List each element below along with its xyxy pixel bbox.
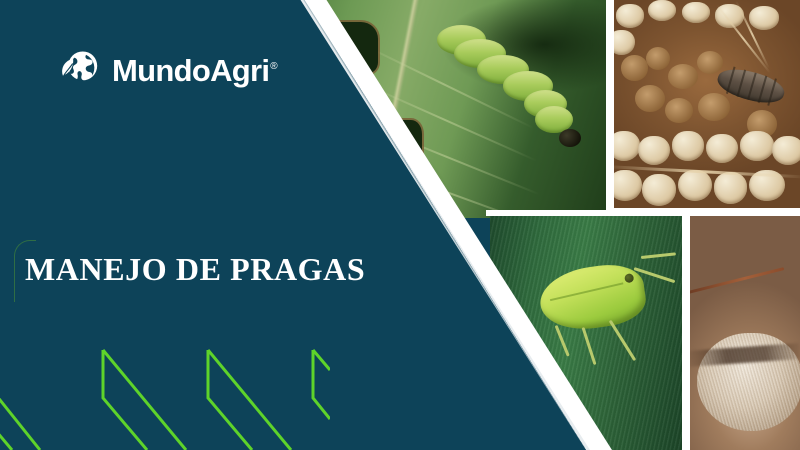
brand-wordmark: MundoAgri® [112,55,278,86]
brand-logo[interactable]: MundoAgri® [58,48,278,92]
page-title: MANEJO DE PRAGAS [25,253,365,285]
registered-mark: ® [270,61,277,72]
slide-content: MundoAgri® MANEJO DE PRAGAS [0,0,800,450]
green-chevron-pattern [0,330,330,450]
slide-canvas: MundoAgri® MANEJO DE PRAGAS [0,0,800,450]
brand-name: MundoAgri [112,53,269,88]
globe-leaf-icon [58,48,102,92]
slide-title-block: MANEJO DE PRAGAS [14,237,365,306]
